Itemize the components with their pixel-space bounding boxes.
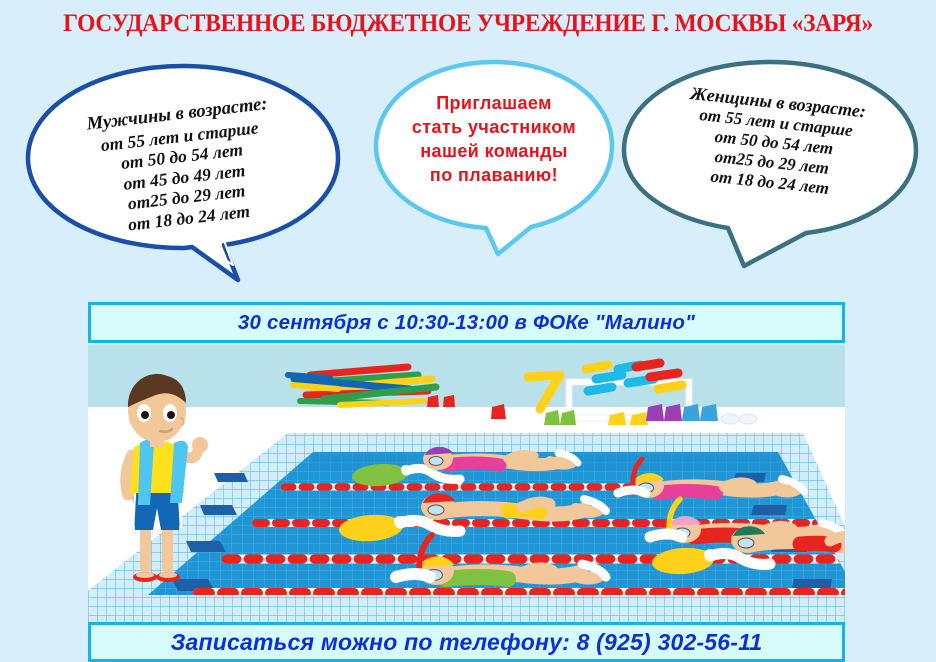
invite-line-1: Приглашаем bbox=[388, 92, 600, 116]
speech-bubble-men: Мужчины в возрасте: от 55 лет и старше о… bbox=[24, 62, 342, 284]
phone-banner: Записаться можно по телефону: 8 (925) 30… bbox=[88, 622, 845, 662]
pool-scene-graphic bbox=[88, 345, 845, 622]
invite-line-3: нашей команды bbox=[388, 140, 600, 164]
speech-bubble-invite-text: Приглашаем стать участником нашей команд… bbox=[388, 92, 600, 188]
invite-line-4: по плаванию! bbox=[388, 164, 600, 188]
event-date-banner: 30 сентября с 10:30-13:00 в ФОКе "Малино… bbox=[88, 302, 845, 343]
pool-back-wall bbox=[88, 345, 845, 407]
speech-bubble-invite: Приглашаем стать участником нашей команд… bbox=[370, 58, 618, 258]
invite-line-2: стать участником bbox=[388, 116, 600, 140]
poster-canvas: ГОСУДАРСТВЕННОЕ БЮДЖЕТНОЕ УЧРЕЖДЕНИЕ Г. … bbox=[0, 0, 936, 662]
swimming-pool-illustration bbox=[88, 345, 845, 622]
page-title: ГОСУДАРСТВЕННОЕ БЮДЖЕТНОЕ УЧРЕЖДЕНИЕ Г. … bbox=[37, 8, 898, 38]
speech-bubble-women: Женщины в возрасте: от 55 лет и старше о… bbox=[620, 58, 920, 270]
